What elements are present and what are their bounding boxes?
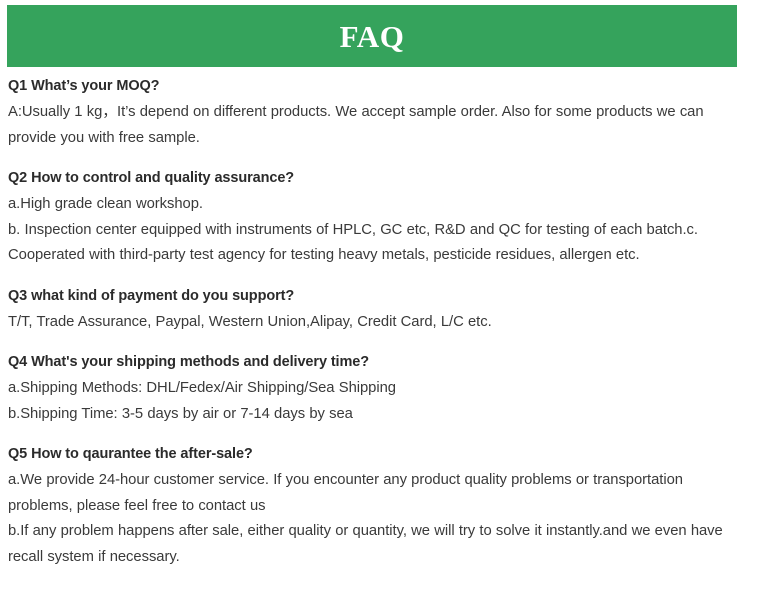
faq-question: Q2 How to control and quality assurance? <box>8 168 744 188</box>
faq-item: Q1 What’s your MOQ? A:Usually 1 kg，It’s … <box>8 76 744 151</box>
faq-answer: b. Inspection center equipped with instr… <box>8 218 744 269</box>
faq-question: Q4 What's your shipping methods and deli… <box>8 352 744 372</box>
faq-item: Q5 How to qaurantee the after-sale? a.We… <box>8 444 744 570</box>
faq-item: Q4 What's your shipping methods and deli… <box>8 352 744 427</box>
page-title: FAQ <box>340 21 405 52</box>
faq-header-banner: FAQ <box>7 5 737 67</box>
faq-answer: a.We provide 24-hour customer service. I… <box>8 468 744 519</box>
faq-answer: b.Shipping Time: 3-5 days by air or 7-14… <box>8 402 744 428</box>
faq-item: Q2 How to control and quality assurance?… <box>8 168 744 269</box>
faq-question: Q3 what kind of payment do you support? <box>8 286 744 306</box>
faq-item: Q3 what kind of payment do you support? … <box>8 286 744 336</box>
faq-answer: a.Shipping Methods: DHL/Fedex/Air Shippi… <box>8 376 744 402</box>
faq-answer: a.High grade clean workshop. <box>8 192 744 218</box>
faq-question: Q1 What’s your MOQ? <box>8 76 744 96</box>
faq-answer: b.If any problem happens after sale, eit… <box>8 519 744 570</box>
faq-answer: A:Usually 1 kg，It’s depend on different … <box>8 100 744 151</box>
faq-page: FAQ Q1 What’s your MOQ? A:Usually 1 kg，I… <box>0 0 757 612</box>
faq-answer: T/T, Trade Assurance, Paypal, Western Un… <box>8 310 744 336</box>
faq-list: Q1 What’s your MOQ? A:Usually 1 kg，It’s … <box>8 76 744 570</box>
faq-question: Q5 How to qaurantee the after-sale? <box>8 444 744 464</box>
